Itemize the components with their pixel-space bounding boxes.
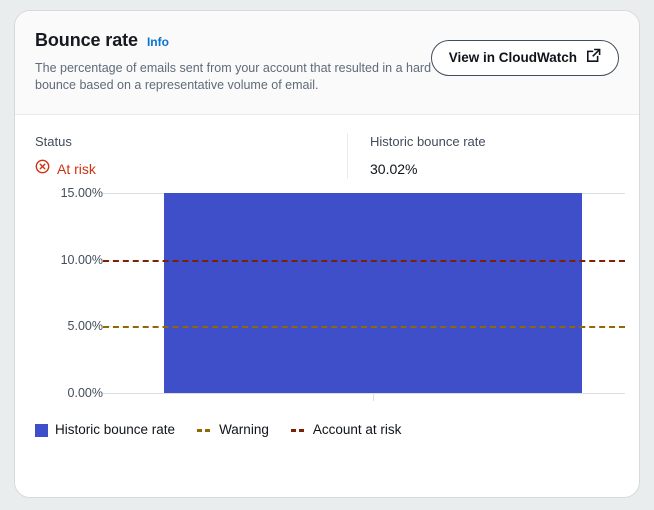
chart-gridline xyxy=(111,393,625,394)
status-badge: At risk xyxy=(35,159,347,179)
y-axis-tick-labels: 0.00%5.00%10.00%15.00% xyxy=(15,193,103,393)
chart-threshold-line-account-at-risk xyxy=(103,260,625,262)
legend-swatch-dash-icon xyxy=(197,429,212,432)
card-description: The percentage of emails sent from your … xyxy=(35,60,435,94)
metrics-row: Status At risk Historic bounce rate 30.0… xyxy=(15,115,639,179)
page-title: Bounce rate xyxy=(35,29,138,51)
y-axis-tick-mark xyxy=(103,193,111,194)
historic-bounce-rate-label: Historic bounce rate xyxy=(370,133,619,151)
legend-item[interactable]: Account at risk xyxy=(291,421,402,439)
x-axis-tick-mark xyxy=(373,393,374,401)
view-in-cloudwatch-label: View in CloudWatch xyxy=(449,49,577,66)
info-link[interactable]: Info xyxy=(147,34,169,50)
status-label: Status xyxy=(35,133,347,151)
view-in-cloudwatch-button[interactable]: View in CloudWatch xyxy=(431,40,619,76)
chart-bar-historic-bounce-rate[interactable] xyxy=(164,193,582,393)
historic-bounce-rate-metric: Historic bounce rate 30.02% xyxy=(347,133,619,179)
legend-swatch-dash-icon xyxy=(291,429,306,432)
bounce-rate-card: Bounce rate Info The percentage of email… xyxy=(14,10,640,498)
legend-swatch-box-icon xyxy=(35,424,48,437)
card-header: Bounce rate Info The percentage of email… xyxy=(15,11,639,115)
status-value-text: At risk xyxy=(57,159,96,179)
legend-item[interactable]: Warning xyxy=(197,421,269,439)
y-axis-tick-label: 15.00% xyxy=(61,185,103,201)
y-axis-tick-label: 10.00% xyxy=(61,252,103,268)
historic-bounce-rate-value: 30.02% xyxy=(370,159,619,179)
bounce-rate-chart: 0.00%5.00%10.00%15.00% Historic bounce r… xyxy=(15,193,639,463)
chart-threshold-line-warning xyxy=(103,326,625,328)
y-axis-tick-label: 0.00% xyxy=(68,385,103,401)
chart-canvas xyxy=(111,193,625,393)
y-axis-tick-label: 5.00% xyxy=(68,318,103,334)
legend-item[interactable]: Historic bounce rate xyxy=(35,421,175,439)
legend-item-label: Historic bounce rate xyxy=(55,421,175,439)
external-link-icon xyxy=(586,48,601,67)
status-metric: Status At risk xyxy=(35,133,347,179)
status-error-icon xyxy=(35,159,50,179)
chart-legend: Historic bounce rateWarningAccount at ri… xyxy=(35,421,401,439)
y-axis-tick-mark xyxy=(103,393,111,394)
legend-item-label: Account at risk xyxy=(313,421,402,439)
card-body: Status At risk Historic bounce rate 30.0… xyxy=(15,115,639,463)
legend-item-label: Warning xyxy=(219,421,269,439)
